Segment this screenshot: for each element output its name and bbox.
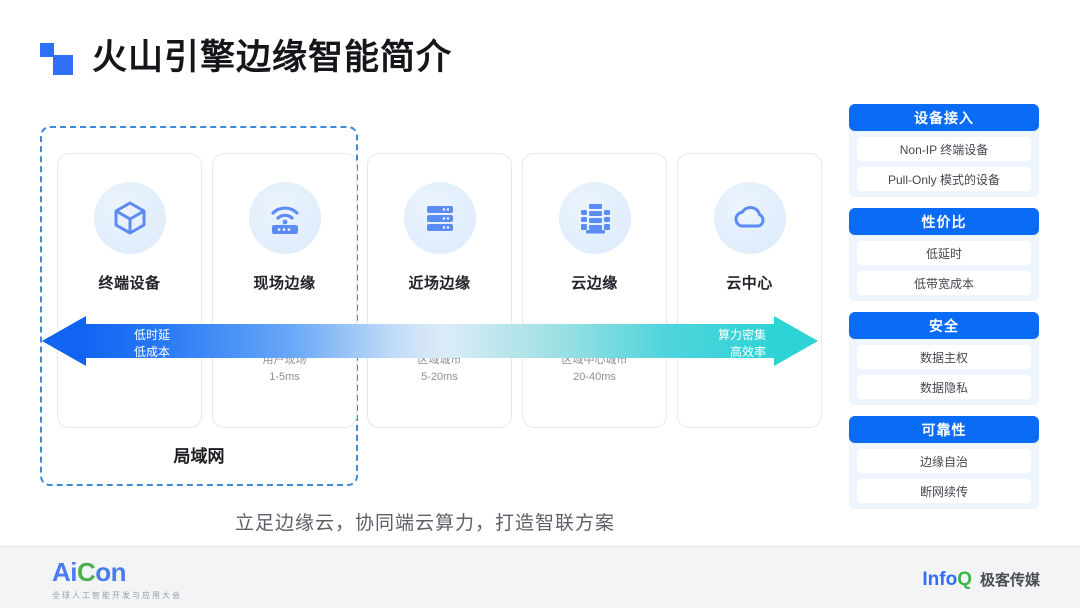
brand-square-small-icon — [40, 43, 54, 57]
tier-card-subtext-line2: 5-20ms — [368, 369, 511, 386]
brand-square-large-icon — [53, 55, 73, 75]
aicon-subtitle: 全球人工智能开发与应用大会 — [52, 590, 182, 601]
tier-card-near-edge[interactable]: 近场边缘 区域城市 5-20ms — [367, 153, 512, 428]
capability-group-title: 安全 — [849, 312, 1039, 339]
capability-group-security: 安全 数据主权 数据隐私 — [849, 312, 1039, 405]
arrow-label-left: 低时延 低成本 — [134, 327, 170, 362]
tier-card-on-premise-edge[interactable]: 现场边缘 用户现场 1-5ms — [212, 153, 357, 428]
aicon-word-c: C — [77, 557, 95, 587]
capability-group-title: 设备接入 — [849, 104, 1039, 131]
arrow-head-left-icon — [42, 316, 86, 366]
aicon-word-ai: Ai — [52, 557, 77, 587]
tier-card-list: 终端设备 — [57, 153, 822, 428]
arrow-head-right-icon — [774, 316, 818, 366]
infoq-wordmark: InfoQ — [922, 570, 972, 589]
latency-compute-arrow: 低时延 低成本 算力密集 高效率 — [42, 316, 818, 366]
capability-item[interactable]: Non-IP 终端设备 — [857, 137, 1031, 161]
slide-root: 火山引擎边缘智能简介 局域网 终端设备 — [0, 0, 1080, 608]
tier-card-cloud-center[interactable]: 云中心 — [677, 153, 822, 428]
capability-item[interactable]: Pull-Only 模式的设备 — [857, 167, 1031, 191]
aicon-wordmark: AiCon — [52, 559, 182, 585]
capability-item[interactable]: 数据隐私 — [857, 375, 1031, 399]
infoq-chinese-name: 极客传媒 — [980, 569, 1040, 590]
edge-continuum-diagram: 局域网 终端设备 — [40, 126, 820, 486]
tier-card-title: 近场边缘 — [408, 272, 470, 293]
capability-item[interactable]: 边缘自治 — [857, 449, 1031, 473]
capability-item[interactable]: 断网续传 — [857, 479, 1031, 503]
tier-card-terminal-device[interactable]: 终端设备 — [57, 153, 202, 428]
cloud-icon — [714, 182, 786, 254]
tier-card-subtext-line2: 20-40ms — [523, 369, 666, 386]
capability-group-title: 可靠性 — [849, 416, 1039, 443]
datacenter-icon — [559, 182, 631, 254]
infoq-logo: InfoQ 极客传媒 — [922, 569, 1040, 590]
tier-card-title: 现场边缘 — [253, 272, 315, 293]
lan-label: 局域网 — [40, 442, 358, 467]
arrow-label-right-line2: 高效率 — [718, 344, 766, 361]
tier-card-title: 终端设备 — [98, 272, 160, 293]
aicon-word-on: on — [95, 557, 126, 587]
wifi-router-icon — [249, 182, 321, 254]
capability-item[interactable]: 低带宽成本 — [857, 271, 1031, 295]
tier-card-subtext-line2: 1-5ms — [213, 369, 356, 386]
brand-squares-icon — [40, 41, 74, 75]
page-title: 火山引擎边缘智能简介 — [92, 40, 452, 75]
tagline: 立足边缘云，协同端云算力，打造智联方案 — [0, 508, 850, 535]
tier-card-cloud-edge[interactable]: 云边缘 区域中心城市 20-40ms — [522, 153, 667, 428]
capability-group-cost-performance: 性价比 低延时 低带宽成本 — [849, 208, 1039, 301]
capability-group-reliability: 可靠性 边缘自治 断网续传 — [849, 416, 1039, 509]
cube-icon — [94, 182, 166, 254]
tier-card-title: 云边缘 — [571, 272, 618, 293]
server-rack-icon — [404, 182, 476, 254]
capability-panel: 设备接入 Non-IP 终端设备 Pull-Only 模式的设备 性价比 低延时… — [849, 104, 1039, 520]
arrow-label-left-line1: 低时延 — [134, 327, 170, 344]
arrow-label-right: 算力密集 高效率 — [718, 327, 766, 362]
aicon-logo: AiCon 全球人工智能开发与应用大会 — [52, 559, 182, 601]
title-row: 火山引擎边缘智能简介 — [40, 40, 452, 75]
capability-group-title: 性价比 — [849, 208, 1039, 235]
capability-item[interactable]: 数据主权 — [857, 345, 1031, 369]
capability-group-device-access: 设备接入 Non-IP 终端设备 Pull-Only 模式的设备 — [849, 104, 1039, 197]
infoq-word-info: Info — [922, 569, 957, 590]
footer-bar: AiCon 全球人工智能开发与应用大会 InfoQ 极客传媒 — [0, 546, 1080, 608]
arrow-body — [84, 324, 776, 358]
arrow-label-left-line2: 低成本 — [134, 344, 170, 361]
tier-card-title: 云中心 — [726, 272, 773, 293]
infoq-word-q: Q — [957, 569, 972, 590]
arrow-label-right-line1: 算力密集 — [718, 327, 766, 344]
capability-item[interactable]: 低延时 — [857, 241, 1031, 265]
